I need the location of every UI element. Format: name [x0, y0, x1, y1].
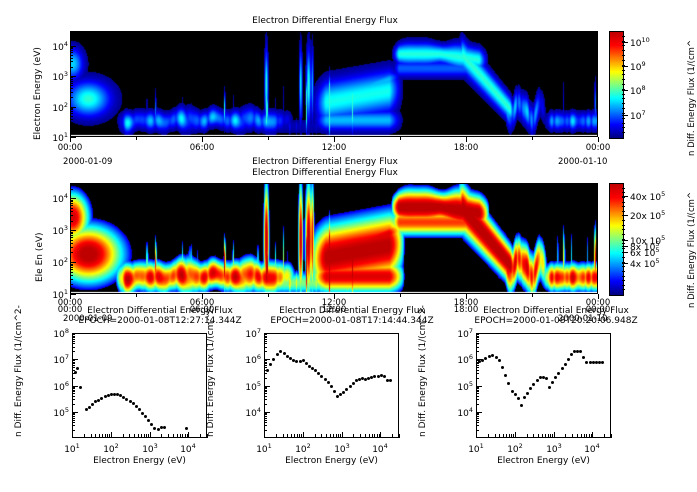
ytick-minor: [264, 416, 267, 417]
xtick-minor: [141, 434, 142, 438]
xtick-minor: [330, 434, 331, 438]
xtick-major: [554, 432, 555, 438]
ytick-label: 106: [38, 380, 69, 393]
data-point: [514, 393, 517, 396]
ytick-minor: [264, 391, 267, 392]
ytick-minor: [264, 351, 267, 352]
xtick-major: [592, 432, 593, 438]
ytick-label: 104: [442, 406, 473, 419]
xtick-minor: [584, 434, 585, 438]
xtick-minor: [577, 434, 578, 438]
xtick-major: [303, 432, 304, 438]
ytick-minor: [72, 351, 75, 352]
xtick-minor: [283, 434, 284, 438]
xtick-minor: [144, 434, 145, 438]
ytick-minor: [72, 336, 75, 337]
xtick-minor: [511, 434, 512, 438]
xtick-label: 103: [538, 442, 570, 455]
xtick-minor: [581, 434, 582, 438]
ytick-minor: [476, 391, 479, 392]
xtick-minor: [369, 434, 370, 438]
xtick-minor: [552, 434, 553, 438]
xtick-minor: [365, 434, 366, 438]
ytick-minor: [264, 343, 267, 344]
ytick-minor: [476, 399, 479, 400]
ytick-label: 105: [442, 380, 473, 393]
middle-xtick-date-right-overlap: 2000-01-10: [558, 314, 607, 324]
xtick-minor: [109, 434, 110, 438]
xtick-minor: [297, 434, 298, 438]
xtick-minor: [146, 434, 147, 438]
xtick-minor: [611, 434, 612, 438]
ytick-minor: [72, 365, 75, 366]
data-point: [185, 427, 188, 430]
spectrum-title: Electron Differential Energy Flux: [456, 306, 656, 316]
xtick-major: [72, 432, 73, 438]
ytick-minor: [72, 422, 75, 423]
xtick-minor: [326, 434, 327, 438]
ytick-label: 104: [230, 406, 261, 419]
data-point: [564, 363, 567, 366]
xtick-minor: [538, 434, 539, 438]
data-point: [141, 412, 144, 415]
data-point: [157, 428, 160, 431]
xtick-minor: [134, 434, 135, 438]
ytick-minor: [264, 378, 267, 379]
data-point: [333, 390, 336, 393]
ytick-label: 105: [38, 406, 69, 419]
data-point: [561, 367, 564, 370]
xtick-minor: [148, 434, 149, 438]
data-point: [327, 381, 330, 384]
xtick-minor: [107, 434, 108, 438]
ytick-minor: [72, 396, 75, 397]
ytick-minor: [476, 416, 479, 417]
middle-xtick-date-left-overlap: 2000-01-09: [63, 314, 112, 324]
ytick-label: 107: [230, 327, 261, 340]
xtick-label: 104: [364, 442, 396, 455]
ytick-minor: [264, 336, 267, 337]
xtick-label: 103: [326, 442, 358, 455]
xtick-minor: [586, 434, 587, 438]
spectrum-ylabel: n Diff. Energy Flux (1/(cm^2-: [206, 297, 216, 437]
ytick-minor: [72, 334, 75, 335]
xtick-major: [515, 432, 516, 438]
ytick-minor: [476, 388, 479, 389]
xtick-minor: [513, 434, 514, 438]
xtick-minor: [177, 434, 178, 438]
xtick-minor: [187, 434, 188, 438]
xtick-minor: [392, 434, 393, 438]
spectrum-ylabel: n Diff. Energy Flux (1/(cm^2-: [14, 297, 24, 437]
data-point: [352, 382, 355, 385]
ytick-minor: [72, 343, 75, 344]
xtick-major: [342, 432, 343, 438]
ytick-minor: [476, 396, 479, 397]
ytick-minor: [264, 367, 267, 368]
spectrum-xlabel: Electron Energy (eV): [456, 456, 631, 466]
xtick-minor: [545, 434, 546, 438]
ytick-minor: [72, 337, 75, 338]
ytick-minor: [264, 339, 267, 340]
spectrum-plot-frame[interactable]: [72, 333, 207, 438]
xtick-label: 102: [95, 442, 127, 455]
xtick-label: 101: [460, 442, 492, 455]
xtick-minor: [173, 434, 174, 438]
xtick-minor: [301, 434, 302, 438]
xtick-minor: [589, 434, 590, 438]
data-point: [342, 391, 345, 394]
ytick-minor: [476, 341, 479, 342]
ytick-minor: [72, 373, 75, 374]
data-point: [88, 406, 91, 409]
data-point: [570, 353, 573, 356]
spectrum-xlabel: Electron Energy (eV): [244, 456, 419, 466]
ytick-minor: [476, 404, 479, 405]
data-point: [305, 362, 308, 365]
xtick-minor: [333, 434, 334, 438]
ytick-minor: [264, 365, 267, 366]
data-point: [330, 385, 333, 388]
xtick-minor: [372, 434, 373, 438]
ytick-minor: [264, 425, 267, 426]
xtick-major: [111, 432, 112, 438]
xtick-minor: [399, 434, 400, 438]
ytick-minor: [264, 404, 267, 405]
ytick-label: 107: [38, 353, 69, 366]
ytick-label: 107: [442, 327, 473, 340]
xtick-minor: [509, 434, 510, 438]
ytick-minor: [476, 420, 479, 421]
xtick-minor: [129, 434, 130, 438]
xtick-minor: [374, 434, 375, 438]
ytick-minor: [476, 387, 479, 388]
ytick-minor: [264, 370, 267, 371]
ytick-minor: [72, 390, 75, 391]
xtick-minor: [604, 434, 605, 438]
ytick-minor: [72, 360, 75, 361]
ytick-minor: [476, 370, 479, 371]
data-point: [536, 379, 539, 382]
ytick-minor: [72, 347, 75, 348]
xtick-minor: [338, 434, 339, 438]
xtick-label: 104: [576, 442, 608, 455]
data-point: [545, 377, 548, 380]
ytick-minor: [72, 363, 75, 364]
ytick-minor: [476, 414, 479, 415]
ytick-minor: [72, 425, 75, 426]
xtick-minor: [321, 434, 322, 438]
xtick-minor: [495, 434, 496, 438]
xtick-minor: [550, 434, 551, 438]
ytick-minor: [264, 362, 267, 363]
xtick-minor: [105, 434, 106, 438]
xtick-minor: [99, 434, 100, 438]
data-point: [517, 397, 520, 400]
ytick-minor: [476, 343, 479, 344]
xtick-label: 104: [172, 442, 204, 455]
xtick-minor: [182, 434, 183, 438]
ytick-minor: [264, 363, 267, 364]
ytick-minor: [264, 418, 267, 419]
data-point: [523, 396, 526, 399]
ytick-minor: [476, 390, 479, 391]
xtick-minor: [340, 434, 341, 438]
xtick-minor: [287, 434, 288, 438]
ytick-minor: [476, 365, 479, 366]
ytick-minor: [476, 367, 479, 368]
middle-xtick-label-overlap: 06:00: [186, 305, 218, 315]
xtick-minor: [533, 434, 534, 438]
xtick-minor: [84, 434, 85, 438]
data-point: [520, 404, 523, 407]
data-point: [295, 360, 298, 363]
ytick-minor: [72, 418, 75, 419]
xtick-minor: [161, 434, 162, 438]
xtick-minor: [572, 434, 573, 438]
middle-xtick-label-overlap: 18:00: [450, 305, 482, 315]
spectrum-subtitle: EPOCH=2000-01-08T20:20:06.948Z: [456, 316, 656, 326]
ytick-minor: [72, 362, 75, 363]
ytick-minor: [476, 425, 479, 426]
xtick-minor: [315, 434, 316, 438]
ytick-minor: [476, 347, 479, 348]
data-point: [76, 367, 79, 370]
ytick-minor: [72, 341, 75, 342]
xtick-minor: [503, 434, 504, 438]
ytick-minor: [264, 341, 267, 342]
data-point: [349, 385, 352, 388]
xtick-minor: [377, 434, 378, 438]
xtick-label: 102: [499, 442, 531, 455]
ytick-minor: [264, 334, 267, 335]
xtick-minor: [565, 434, 566, 438]
ytick-minor: [72, 413, 75, 414]
ytick-minor: [476, 418, 479, 419]
xtick-minor: [542, 434, 543, 438]
ytick-minor: [476, 413, 479, 414]
xtick-minor: [168, 434, 169, 438]
spectrum-ylabel: n Diff. Energy Flux (1/(cm^2-: [418, 297, 428, 437]
ytick-minor: [264, 347, 267, 348]
data-point: [495, 356, 498, 359]
ytick-minor: [72, 430, 75, 431]
ytick-minor: [476, 351, 479, 352]
data-point: [79, 386, 82, 389]
ytick-minor: [72, 404, 75, 405]
xtick-minor: [353, 434, 354, 438]
data-point: [135, 405, 138, 408]
data-point: [511, 390, 514, 393]
data-point: [276, 353, 279, 356]
spectrum-plot-frame[interactable]: [476, 333, 611, 438]
xtick-major: [264, 432, 265, 438]
xtick-label: 101: [56, 442, 88, 455]
xtick-label: 102: [287, 442, 319, 455]
xtick-minor: [276, 434, 277, 438]
ytick-minor: [264, 373, 267, 374]
data-point: [91, 403, 94, 406]
ytick-minor: [476, 430, 479, 431]
xtick-minor: [336, 434, 337, 438]
xtick-minor: [488, 434, 489, 438]
xtick-minor: [591, 434, 592, 438]
ytick-minor: [72, 388, 75, 389]
xtick-minor: [360, 434, 361, 438]
xtick-minor: [138, 434, 139, 438]
ytick-minor: [264, 413, 267, 414]
ytick-minor: [264, 388, 267, 389]
ytick-minor: [264, 430, 267, 431]
ytick-label: 105: [230, 380, 261, 393]
ytick-label: 106: [442, 353, 473, 366]
ytick-minor: [476, 336, 479, 337]
xtick-minor: [379, 434, 380, 438]
data-point: [601, 361, 604, 364]
ytick-minor: [72, 367, 75, 368]
ytick-minor: [72, 370, 75, 371]
xtick-major: [150, 432, 151, 438]
data-point: [548, 386, 551, 389]
xtick-minor: [200, 434, 201, 438]
ytick-minor: [72, 339, 75, 340]
ytick-minor: [264, 422, 267, 423]
ytick-minor: [264, 360, 267, 361]
ytick-minor: [264, 337, 267, 338]
ytick-minor: [476, 362, 479, 363]
ytick-minor: [476, 373, 479, 374]
ytick-minor: [72, 416, 75, 417]
xtick-minor: [527, 434, 528, 438]
ytick-minor: [476, 334, 479, 335]
xtick-major: [476, 432, 477, 438]
xtick-label: 101: [248, 442, 280, 455]
xtick-minor: [185, 434, 186, 438]
xtick-label: 103: [134, 442, 166, 455]
ytick-minor: [264, 387, 267, 388]
xtick-minor: [299, 434, 300, 438]
xtick-minor: [91, 434, 92, 438]
data-point: [283, 352, 286, 355]
ytick-minor: [72, 391, 75, 392]
ytick-minor: [476, 360, 479, 361]
data-point: [324, 378, 327, 381]
spectra-panel-row: Electron Differential Energy FluxEPOCH=2…: [0, 0, 697, 492]
ytick-minor: [264, 396, 267, 397]
ytick-minor: [72, 393, 75, 394]
xtick-minor: [294, 434, 295, 438]
data-point: [504, 374, 507, 377]
xtick-minor: [291, 434, 292, 438]
xtick-minor: [548, 434, 549, 438]
data-point: [163, 426, 166, 429]
data-point: [501, 366, 504, 369]
xtick-minor: [506, 434, 507, 438]
ytick-minor: [476, 363, 479, 364]
middle-xtick-label-overlap: 12:00: [318, 305, 350, 315]
data-point: [383, 375, 386, 378]
xtick-minor: [102, 434, 103, 438]
ytick-minor: [72, 378, 75, 379]
xtick-minor: [95, 434, 96, 438]
xtick-minor: [499, 434, 500, 438]
xtick-minor: [123, 434, 124, 438]
ytick-minor: [264, 414, 267, 415]
ytick-minor: [476, 393, 479, 394]
ytick-minor: [264, 399, 267, 400]
ytick-minor: [72, 399, 75, 400]
ytick-minor: [72, 420, 75, 421]
data-point: [567, 358, 570, 361]
xtick-minor: [180, 434, 181, 438]
ytick-minor: [72, 414, 75, 415]
spectrum-xlabel: Electron Energy (eV): [52, 456, 227, 466]
xtick-major: [380, 432, 381, 438]
ytick-minor: [476, 378, 479, 379]
ytick-minor: [264, 393, 267, 394]
ytick-minor: [476, 337, 479, 338]
ytick-minor: [264, 420, 267, 421]
ytick-label: 108: [38, 327, 69, 340]
ytick-minor: [72, 387, 75, 388]
ytick-minor: [476, 339, 479, 340]
ytick-minor: [264, 390, 267, 391]
xtick-major: [188, 432, 189, 438]
ytick-minor: [476, 422, 479, 423]
ytick-label: 106: [230, 353, 261, 366]
